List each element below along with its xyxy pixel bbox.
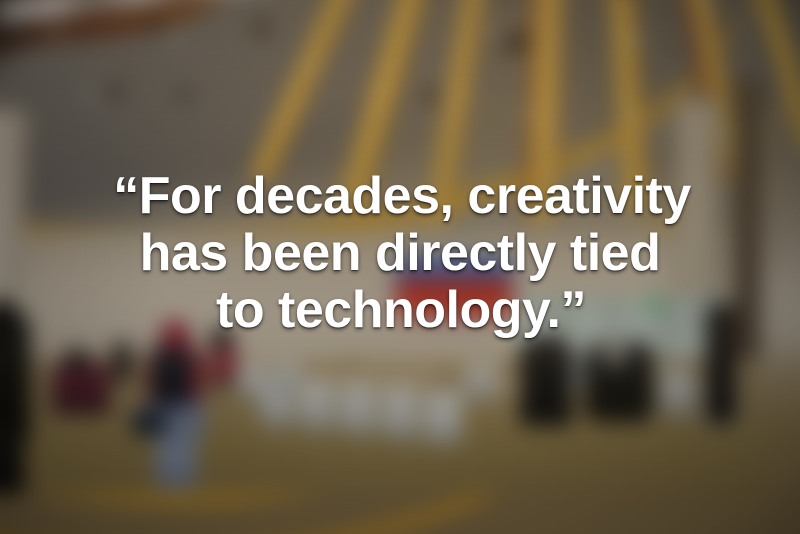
quote-text: “For decades, creativity has been direct…: [0, 168, 800, 339]
quote-line-3: to technology.”: [0, 282, 800, 339]
quote-card: “For decades, creativity has been direct…: [0, 0, 800, 534]
quote-line-2: has been directly tied: [0, 225, 800, 282]
quote-line-1: “For decades, creativity: [0, 168, 800, 225]
